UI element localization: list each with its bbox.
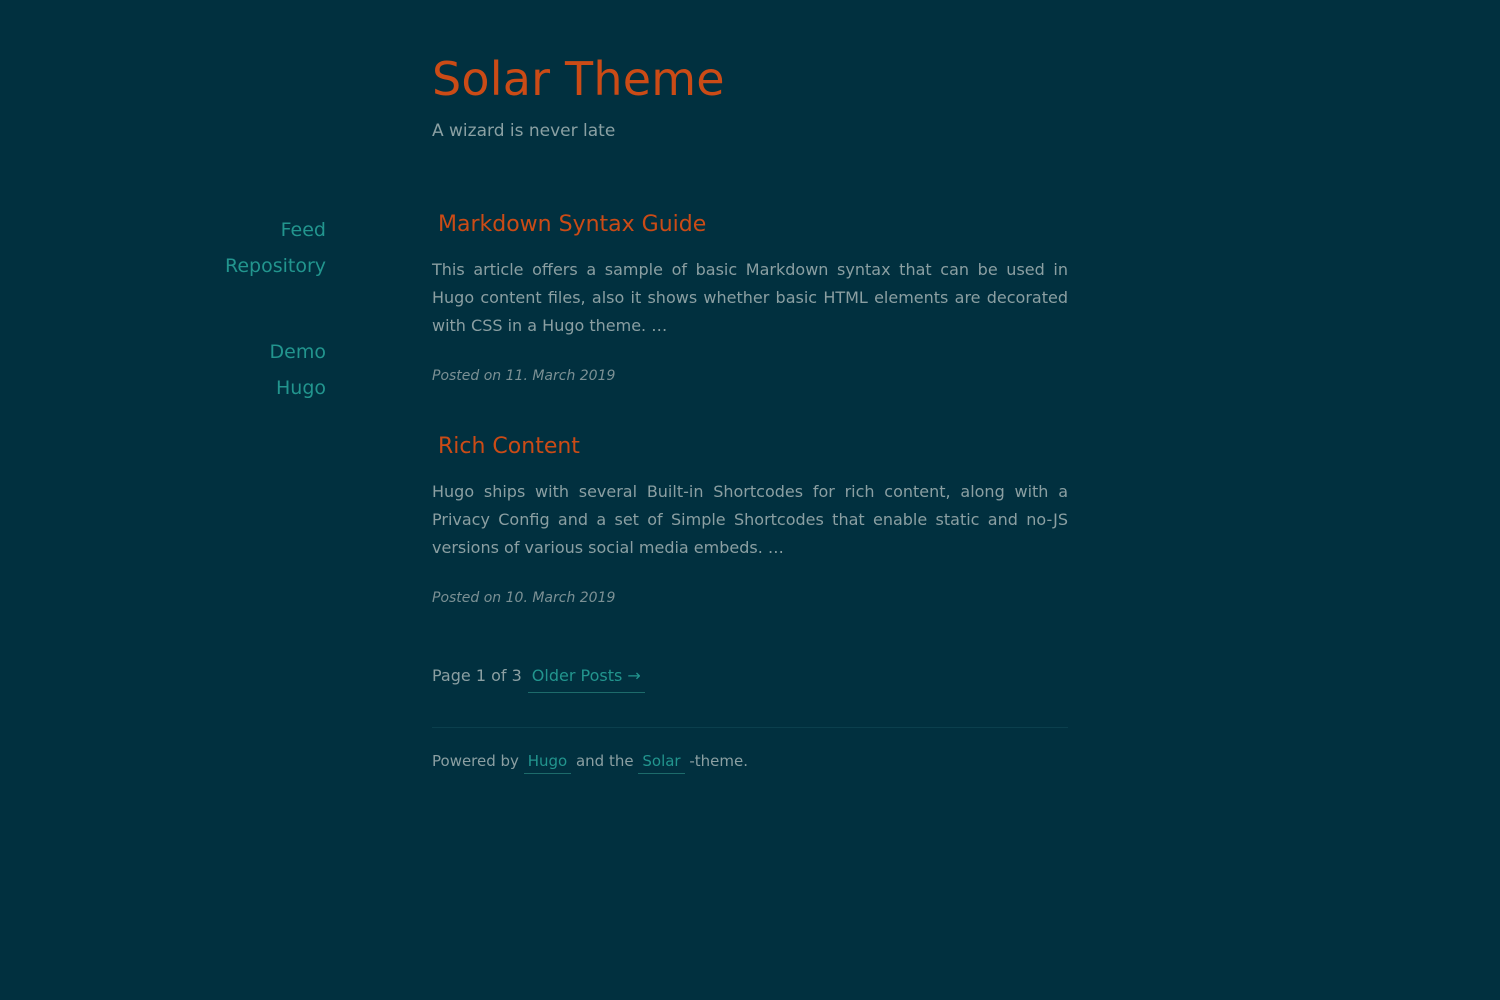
footer-link-hugo[interactable]: Hugo — [524, 752, 572, 774]
post-title-link[interactable]: Rich Content — [438, 434, 580, 459]
nav-item-demo[interactable]: Demo — [100, 340, 326, 364]
page-counter: Page 1 of 3 — [432, 664, 522, 688]
nav-link-demo[interactable]: Demo — [270, 340, 326, 364]
nav-link-repository[interactable]: Repository — [225, 254, 326, 278]
footer-middle: and the — [571, 752, 638, 770]
older-posts-link[interactable]: Older Posts → — [528, 664, 645, 693]
footer-prefix: Powered by — [432, 752, 524, 770]
pagination: Page 1 of 3 Older Posts → — [432, 664, 1068, 693]
page-root: Solar Theme A wizard is never late Feed … — [0, 0, 1500, 1000]
nav-group-primary: Feed Repository — [100, 218, 326, 278]
site-title: Solar Theme — [432, 52, 1132, 106]
post-date: Posted on 10. March 2019 — [432, 588, 1068, 608]
post-summary: Hugo ships with several Built-in Shortco… — [432, 478, 1068, 562]
post-date: Posted on 11. March 2019 — [432, 366, 1068, 386]
main-content: Markdown Syntax Guide This article offer… — [432, 210, 1068, 772]
site-header: Solar Theme A wizard is never late — [432, 52, 1132, 142]
post-title-link[interactable]: Markdown Syntax Guide — [438, 212, 706, 237]
sidebar-nav: Feed Repository Demo Hugo — [100, 218, 326, 412]
nav-link-feed[interactable]: Feed — [281, 218, 326, 242]
nav-item-hugo[interactable]: Hugo — [100, 376, 326, 400]
nav-item-feed[interactable]: Feed — [100, 218, 326, 242]
site-footer: Powered by Hugo and the Solar -theme. — [432, 727, 1068, 772]
post-item: Markdown Syntax Guide This article offer… — [432, 210, 1068, 386]
nav-item-repository[interactable]: Repository — [100, 254, 326, 278]
post-item: Rich Content Hugo ships with several Bui… — [432, 432, 1068, 608]
post-title[interactable]: Markdown Syntax Guide — [432, 210, 1068, 240]
footer-suffix: -theme. — [685, 752, 748, 770]
post-title[interactable]: Rich Content — [432, 432, 1068, 462]
footer-link-solar[interactable]: Solar — [638, 752, 684, 774]
nav-group-secondary: Demo Hugo — [100, 340, 326, 400]
site-subtitle: A wizard is never late — [432, 106, 1132, 142]
post-summary: This article offers a sample of basic Ma… — [432, 256, 1068, 340]
nav-link-hugo[interactable]: Hugo — [276, 376, 326, 400]
